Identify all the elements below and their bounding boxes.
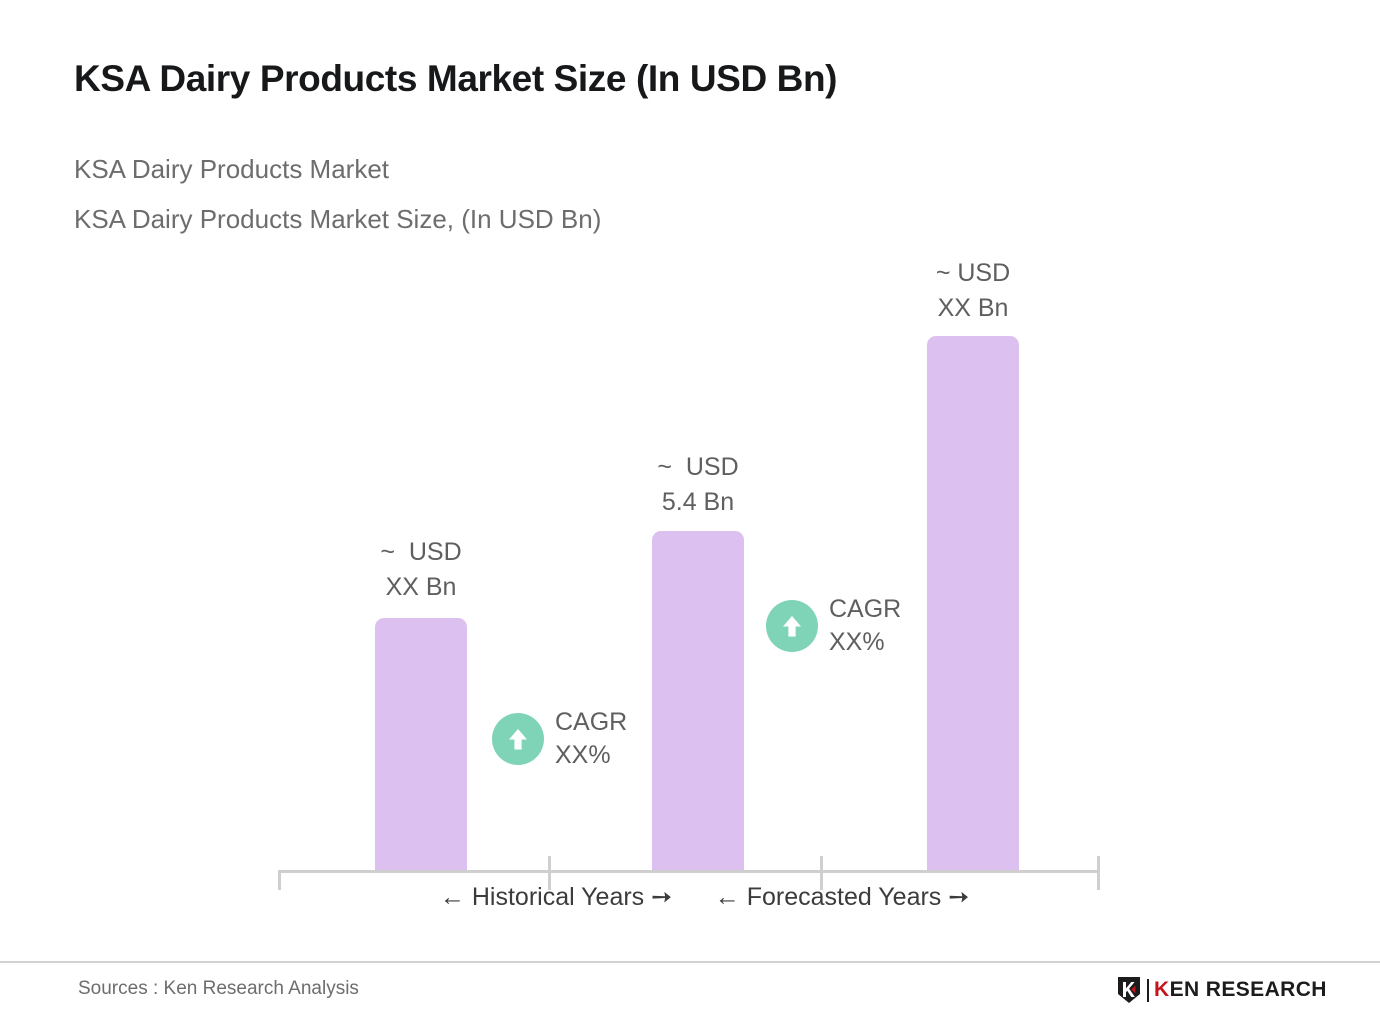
cagr-badge-historical-to-base: CAGRXX% [492, 706, 627, 772]
axis-caption-historical: ← Historical Years ➙ [416, 882, 696, 912]
bar-base[interactable] [652, 531, 744, 872]
bar-label-base-line1: ~ USD [657, 453, 738, 481]
x-axis-line [278, 870, 1100, 873]
bar-label-base-line2: 5.4 Bn [662, 488, 734, 516]
bar-label-historical-line2: XX Bn [386, 573, 457, 601]
ken-research-shield-icon [1116, 976, 1142, 1004]
bar-label-forecast: ~ USDXX Bn [887, 256, 1059, 326]
bar-forecast[interactable] [927, 336, 1019, 872]
arrow-up-icon [492, 713, 544, 765]
cagr-line2-b: XX% [829, 628, 885, 656]
cagr-badge-base-to-forecast: CAGRXX% [766, 593, 901, 659]
bar-label-forecast-line1: ~ USD [936, 259, 1010, 287]
bar-label-historical-line1: ~ USD [380, 538, 461, 566]
ken-research-logo: KEN RESEARCH [1116, 976, 1327, 1004]
cagr-line1-b: CAGR [829, 595, 901, 623]
bar-label-base: ~ USD5.4 Bn [612, 450, 784, 520]
bar-label-forecast-line2: XX Bn [938, 294, 1009, 322]
cagr-line1-a: CAGR [555, 708, 627, 736]
bar-label-historical: ~ USDXX Bn [335, 535, 507, 605]
cagr-line2-a: XX% [555, 741, 611, 769]
brand-divider [1147, 979, 1149, 1002]
brand-name: KEN RESEARCH [1154, 978, 1327, 1002]
axis-tick-end [1097, 856, 1100, 890]
cagr-label-historical-to-base: CAGRXX% [555, 706, 627, 772]
axis-tick-start [278, 870, 281, 890]
cagr-label-base-to-forecast: CAGRXX% [829, 593, 901, 659]
arrow-up-icon [766, 600, 818, 652]
brand-name-k: K [1154, 978, 1170, 1001]
bar-historical[interactable] [375, 618, 467, 872]
source-note: Sources : Ken Research Analysis [78, 978, 359, 1000]
bar-chart: ~ USDXX Bn ~ USD5.4 Bn ~ USDXX Bn CAGRXX… [0, 0, 1380, 935]
axis-caption-forecasted: ← Forecasted Years ➙ [702, 882, 982, 912]
brand-name-rest: EN RESEARCH [1170, 978, 1327, 1001]
footer-divider [0, 961, 1380, 963]
